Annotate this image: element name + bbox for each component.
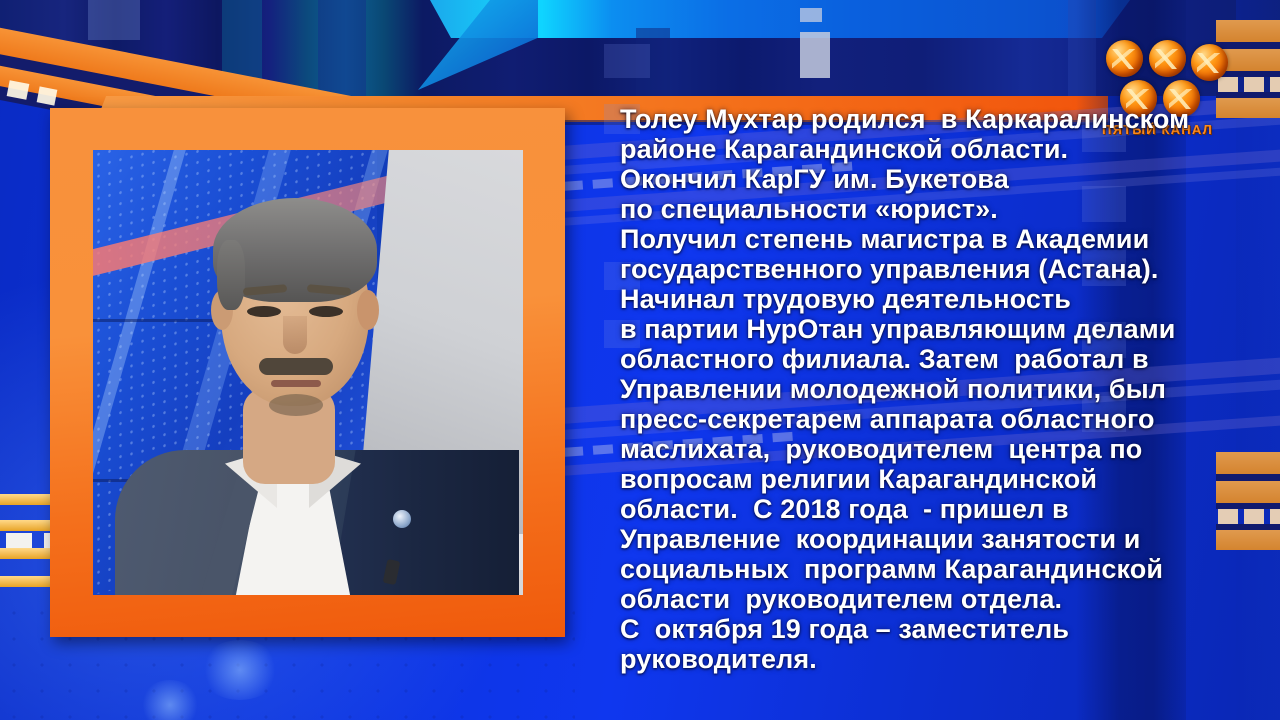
caption-line: Управлении молодежной политики, был xyxy=(620,374,1220,404)
background-panel-4 xyxy=(800,8,822,22)
right-orange-bar-6 xyxy=(1216,530,1280,550)
photo-person-eye-right xyxy=(309,306,343,317)
guest-photo xyxy=(93,150,523,595)
photo-person-nose xyxy=(283,316,307,354)
caption-line: области руководителем отдела. xyxy=(620,584,1220,614)
caption-line: районе Карагандинской области. xyxy=(620,134,1220,164)
right-dark-bar-4 xyxy=(1216,474,1280,481)
caption-line: области. С 2018 года - пришел в xyxy=(620,494,1220,524)
caption-line: руководителя. xyxy=(620,644,1220,674)
caption-line: Управление координации занятости и xyxy=(620,524,1220,554)
right-orange-bar-1 xyxy=(1216,20,1280,42)
right-orange-bar-4 xyxy=(1216,452,1280,474)
globe-icon-3 xyxy=(1191,44,1228,81)
caption-line: в партии НурОтан управляющим делами xyxy=(620,314,1220,344)
caption-line: Окончил КарГУ им. Букетова xyxy=(620,164,1220,194)
background-panel-2 xyxy=(318,0,366,96)
photo-person-jacket-right xyxy=(329,450,519,595)
right-orange-bar-5 xyxy=(1216,481,1280,503)
globe-icon-1 xyxy=(1106,40,1143,77)
background-glow-1 xyxy=(200,640,280,700)
caption-line: Начинал трудовую деятельность xyxy=(620,284,1220,314)
caption-line: по специальности «юрист». xyxy=(620,194,1220,224)
right-white-block-2 xyxy=(1244,77,1264,92)
photo-person-chin-shadow xyxy=(269,394,323,416)
caption-line: пресс-секретарем аппарата областного xyxy=(620,404,1220,434)
photo-person-ear-right xyxy=(357,290,379,330)
caption-line: маслихата, руководителем центра по xyxy=(620,434,1220,464)
background-gold-light-1 xyxy=(6,533,32,548)
caption-line: государственного управления (Астана). xyxy=(620,254,1220,284)
broadcast-lower-third-screen: ПЯТЫЙ КАНАЛ Толеу Мухтар родился в Карка… xyxy=(0,0,1280,720)
right-white-block-4 xyxy=(1218,509,1238,524)
photo-person-eye-left xyxy=(247,306,281,317)
background-panel-1 xyxy=(88,0,140,40)
right-white-block-5 xyxy=(1244,509,1264,524)
globe-icon-2 xyxy=(1149,40,1186,77)
caption-line: С октября 19 года – заместитель xyxy=(620,614,1220,644)
photo-person-hair xyxy=(213,198,377,302)
caption-line: вопросам религии Карагандинской xyxy=(620,464,1220,494)
biography-caption: Толеу Мухтар родился в Каркаралинском ра… xyxy=(620,104,1220,674)
background-block-1 xyxy=(604,44,650,78)
caption-line: Получил степень магистра в Академии xyxy=(620,224,1220,254)
background-panel-5 xyxy=(800,32,830,78)
caption-line: социальных программ Карагандинской xyxy=(620,554,1220,584)
right-white-block-3 xyxy=(1270,77,1280,92)
right-white-block-6 xyxy=(1270,509,1280,524)
caption-line: Толеу Мухтар родился в Каркаралинском xyxy=(620,104,1220,134)
photo-frame xyxy=(50,108,565,637)
photo-person-lapel-pin-icon xyxy=(393,510,411,528)
caption-line: областного филиала. Затем работал в xyxy=(620,344,1220,374)
photo-person-moustache xyxy=(259,358,333,375)
photo-person-mouth xyxy=(271,380,321,387)
background-light-2 xyxy=(37,86,58,105)
